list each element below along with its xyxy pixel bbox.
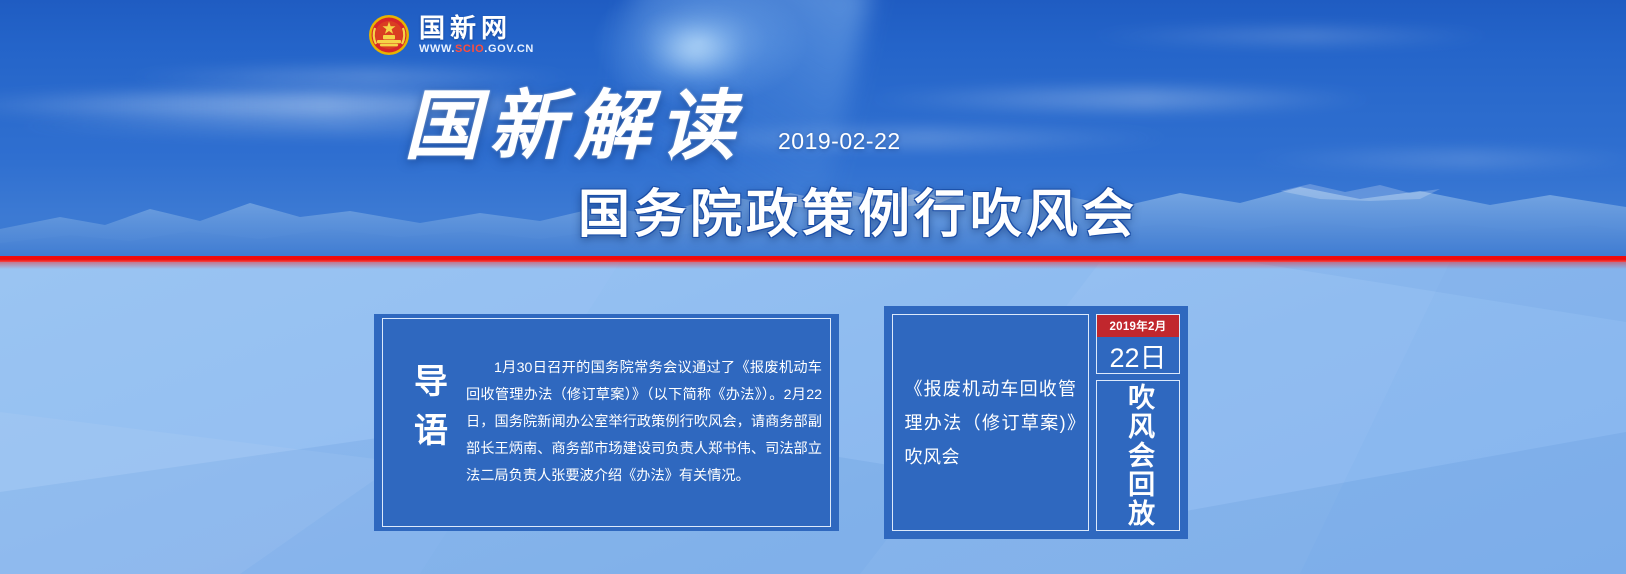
replay-vertical-label: 吹风会回放 (1124, 383, 1152, 528)
red-divider-glow (0, 262, 1626, 269)
replay-title: 《报废机动车回收管理办法（修订草案)》吹风会 (905, 372, 1077, 474)
logo-url: WWW.SCIO.GOV.CN (419, 43, 534, 55)
banner-title: 国新解读 (404, 64, 744, 174)
replay-title-box[interactable]: 《报废机动车回收管理办法（修订草案)》吹风会 (892, 314, 1089, 531)
cloud-decoration (860, 88, 1380, 110)
site-logo[interactable]: 国新网 WWW.SCIO.GOV.CN (368, 14, 534, 56)
banner-header: 国新网 WWW.SCIO.GOV.CN 国新解读 2019-02-22 国务院政… (0, 0, 1626, 256)
replay-vertical-button[interactable]: 吹风会回放 (1096, 380, 1180, 531)
date-badge-month: 2019年2月 (1097, 315, 1179, 337)
logo-url-suffix: .GOV.CN (484, 43, 534, 55)
national-emblem-icon (368, 14, 410, 56)
date-badge-day: 22日 (1097, 337, 1179, 373)
banner-date: 2019-02-22 (778, 128, 901, 155)
logo-url-brand: SCIO (455, 43, 484, 55)
red-divider (0, 256, 1626, 262)
intro-label: 导语 (404, 358, 458, 457)
logo-url-prefix: WWW. (419, 43, 455, 55)
logo-name: 国新网 (419, 15, 512, 42)
logo-text-block: 国新网 WWW.SCIO.GOV.CN (419, 15, 534, 55)
cloud-decoration (1080, 28, 1500, 44)
date-badge: 2019年2月 22日 (1096, 314, 1180, 374)
banner-subtitle: 国务院政策例行吹风会 (578, 172, 1138, 247)
intro-text: 1月30日召开的国务院常务会议通过了《报废机动车回收管理办法（修订草案）》（以下… (466, 355, 822, 490)
page-root: 国新网 WWW.SCIO.GOV.CN 国新解读 2019-02-22 国务院政… (0, 0, 1626, 574)
